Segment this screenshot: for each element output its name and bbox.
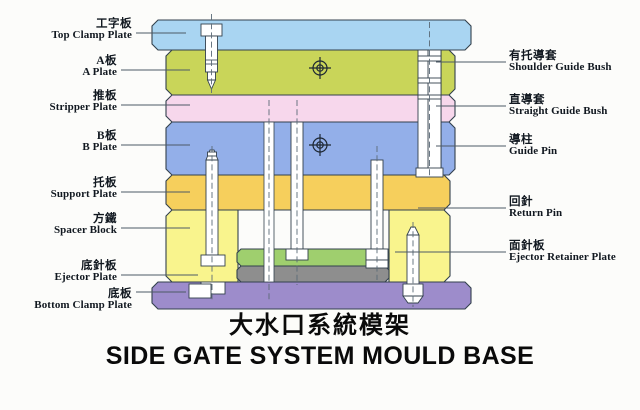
label-spacer-block: 方鐵 Spacer Block (0, 213, 117, 237)
label-ejector-plate: 底針板 Ejector Plate (0, 260, 117, 284)
label-spacer-block-en: Spacer Block (0, 225, 117, 237)
label-a-plate-en: A Plate (0, 67, 117, 79)
label-guide-pin-en: Guide Pin (509, 146, 557, 158)
label-return-pin-en: Return Pin (509, 208, 562, 220)
label-a-plate: A板 A Plate (0, 55, 117, 79)
label-stripper-plate: 推板 Stripper Plate (0, 90, 117, 114)
part-cap-screw-bottom-left (189, 284, 211, 298)
part-stripper-plate (166, 95, 455, 122)
label-ejector-retainer-plate-en: Ejector Retainer Plate (509, 252, 616, 264)
label-ejector-retainer-plate: 面針板 Ejector Retainer Plate (509, 240, 616, 264)
label-support-plate-en: Support Plate (0, 189, 117, 201)
label-b-plate-en: B Plate (0, 142, 117, 154)
label-straight-guide-bush: 直導套 Straight Guide Bush (509, 94, 607, 118)
label-support-plate: 托板 Support Plate (0, 177, 117, 201)
part-top-clamp-plate (152, 20, 471, 50)
diagram-title-chinese: 大水口系統模架 (0, 312, 640, 340)
label-top-clamp-plate-en: Top Clamp Plate (0, 30, 132, 42)
label-shoulder-guide-bush: 有托導套 Shoulder Guide Bush (509, 50, 612, 74)
label-bottom-clamp-plate-en: Bottom Clamp Plate (0, 300, 132, 312)
mould-base-diagram: 工字板 Top Clamp Plate A板 A Plate 推板 Stripp… (0, 0, 640, 410)
part-spacer-block-left (166, 210, 238, 282)
label-top-clamp-plate: 工字板 Top Clamp Plate (0, 18, 132, 42)
diagram-title: 大水口系統模架 SIDE GATE SYSTEM MOULD BASE (0, 312, 640, 370)
label-return-pin: 回針 Return Pin (509, 196, 562, 220)
label-ejector-plate-en: Ejector Plate (0, 272, 117, 284)
label-b-plate: B板 B Plate (0, 130, 117, 154)
diagram-title-english: SIDE GATE SYSTEM MOULD BASE (0, 342, 640, 370)
label-stripper-plate-en: Stripper Plate (0, 102, 117, 114)
part-spacer-block-right (389, 210, 450, 282)
label-straight-guide-bush-en: Straight Guide Bush (509, 106, 607, 118)
label-guide-pin: 導柱 Guide Pin (509, 134, 557, 158)
label-bottom-clamp-plate: 底板 Bottom Clamp Plate (0, 288, 132, 312)
label-shoulder-guide-bush-en: Shoulder Guide Bush (509, 62, 612, 74)
